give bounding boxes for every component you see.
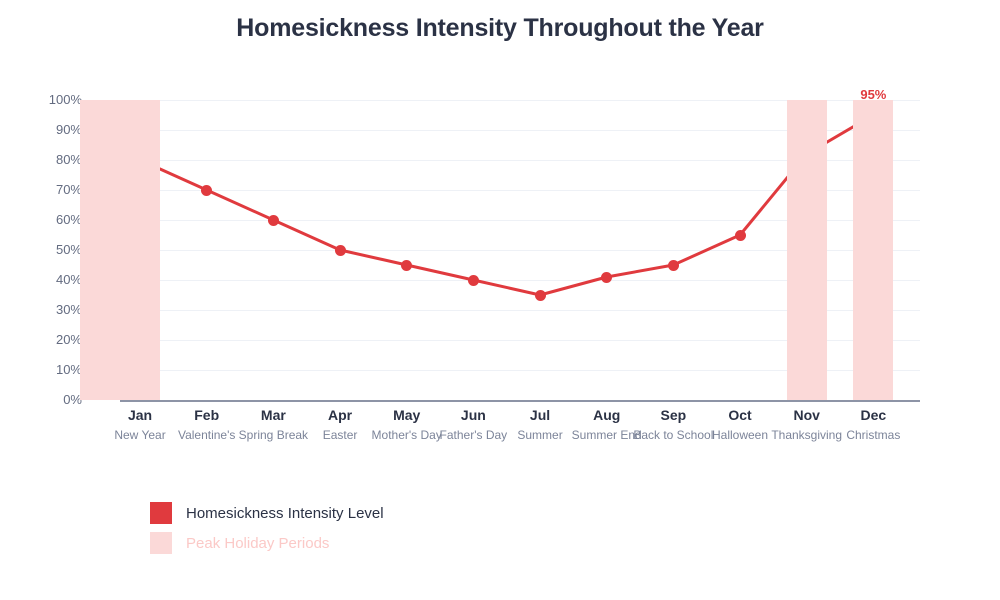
- y-axis-tick-label: 100%: [22, 92, 82, 107]
- legend-label: Homesickness Intensity Level: [186, 505, 384, 522]
- holiday-label: Christmas: [813, 427, 933, 443]
- y-axis-tick-label: 70%: [22, 182, 82, 197]
- legend-item-2[interactable]: Peak Holiday Periods: [150, 528, 650, 558]
- chart-title: Homesickness Intensity Throughout the Ye…: [0, 14, 1000, 43]
- y-axis-tick-label: 50%: [22, 242, 82, 257]
- data-point[interactable]: [335, 245, 346, 256]
- data-point[interactable]: [668, 260, 679, 271]
- x-axis-line: [120, 400, 920, 402]
- data-point[interactable]: [268, 215, 279, 226]
- y-axis-tick-label: 80%: [22, 152, 82, 167]
- holiday-band-jan: [80, 100, 160, 400]
- data-point[interactable]: [535, 290, 546, 301]
- legend-swatch: [150, 502, 172, 524]
- y-axis-tick-label: 0%: [22, 392, 82, 407]
- data-point[interactable]: [201, 185, 212, 196]
- y-axis-tick-label: 10%: [22, 362, 82, 377]
- x-axis-tick-dec: DecChristmas: [813, 407, 933, 443]
- data-point[interactable]: [601, 272, 612, 283]
- y-axis-tick-label: 30%: [22, 302, 82, 317]
- y-axis-tick-label: 20%: [22, 332, 82, 347]
- legend-label: Peak Holiday Periods: [186, 535, 329, 552]
- chart-legend: Homesickness Intensity LevelPeak Holiday…: [150, 498, 650, 558]
- plot-area: 95%: [120, 100, 920, 400]
- holiday-band-nov: [787, 100, 827, 400]
- y-axis-tick-labels: 100%90%80%70%60%50%40%30%20%10%0%: [22, 100, 82, 400]
- data-point[interactable]: [735, 230, 746, 241]
- month-label: Dec: [813, 407, 933, 423]
- peak-value-annotation: 95%: [860, 87, 886, 102]
- y-axis-tick-label: 40%: [22, 272, 82, 287]
- y-axis-tick-label: 90%: [22, 122, 82, 137]
- x-axis-tick-labels: JanNew YearFebValentine'sMarSpring Break…: [120, 407, 920, 457]
- legend-item-1[interactable]: Homesickness Intensity Level: [150, 498, 650, 528]
- legend-swatch: [150, 532, 172, 554]
- data-point[interactable]: [401, 260, 412, 271]
- chart-container: Homesickness Intensity Throughout the Ye…: [0, 0, 1000, 600]
- data-point[interactable]: [468, 275, 479, 286]
- y-axis-tick-label: 60%: [22, 212, 82, 227]
- holiday-band-dec: [853, 100, 893, 400]
